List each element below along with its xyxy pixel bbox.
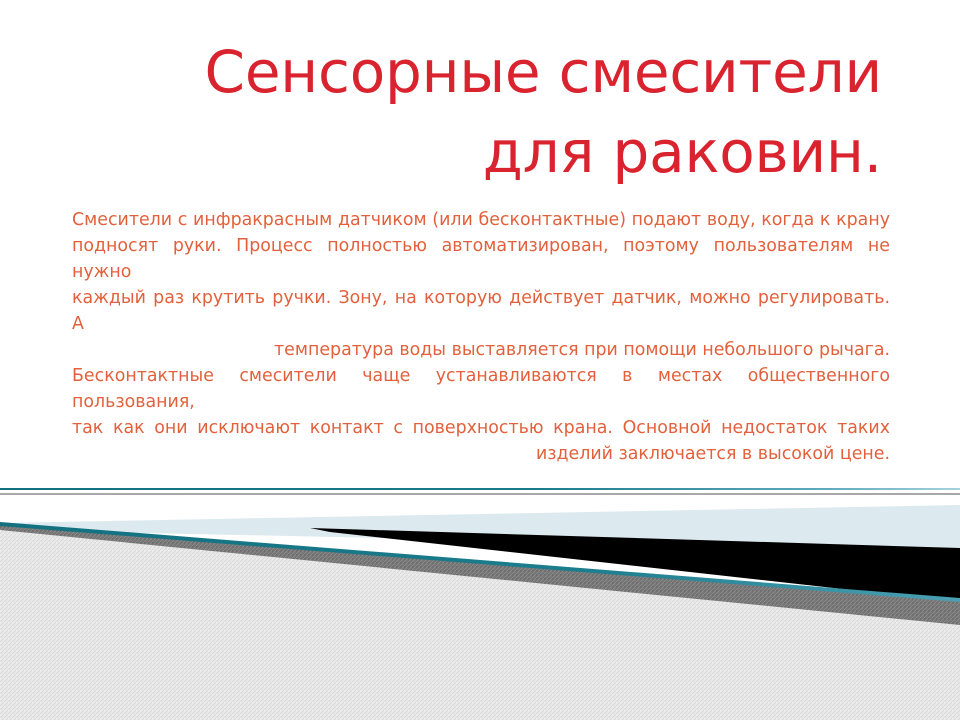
footer-decoration	[0, 470, 960, 720]
slide-canvas: Сенсорные смесители для раковин. Смесите…	[0, 0, 960, 720]
slide-body: Смесители с инфракрасным датчиком (или б…	[72, 207, 890, 467]
body-line: изделий заключается в высокой цене.	[72, 441, 890, 467]
angled-wedges-graphic	[0, 470, 960, 720]
body-line: температура воды выставляется при помощи…	[72, 337, 890, 363]
body-paragraph: Бесконтактные смесители чаще устанавлива…	[72, 363, 890, 467]
body-line: так как они исключают контакт с поверхно…	[72, 415, 890, 441]
body-line: Смесители с инфракрасным датчиком (или б…	[72, 207, 890, 233]
body-line: подносят руки. Процесс полностью автомат…	[72, 233, 890, 285]
body-line: каждый раз крутить ручки. Зону, на котор…	[72, 285, 890, 337]
slide-title: Сенсорные смесители для раковин.	[120, 32, 882, 192]
body-line: Бесконтактные смесители чаще устанавлива…	[72, 363, 890, 415]
body-paragraph: Смесители с инфракрасным датчиком (или б…	[72, 207, 890, 363]
